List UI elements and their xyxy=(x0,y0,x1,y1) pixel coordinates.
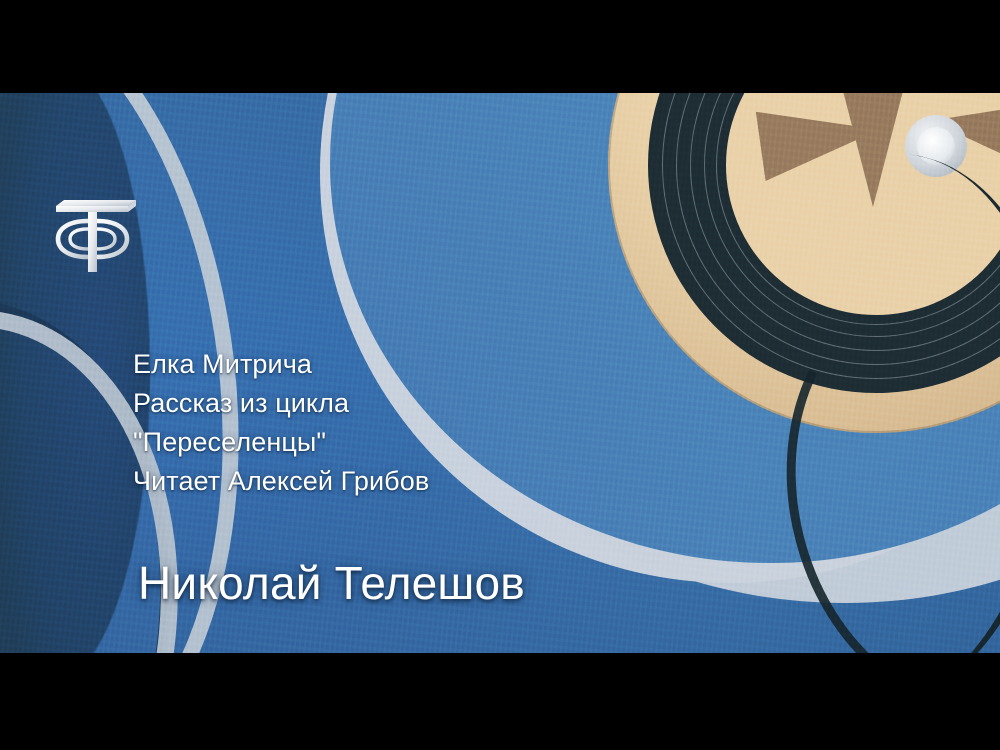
caption-line-title: Елка Митрича xyxy=(133,345,753,384)
caption-line-narrator: Читает Алексей Грибов xyxy=(133,462,753,501)
caption-line-series-prefix: Рассказ из цикла xyxy=(133,384,753,423)
letterbox-bar-bottom xyxy=(0,653,1000,750)
video-thumbnail-frame: Елка Митрича Рассказ из цикла "Переселен… xyxy=(0,0,1000,750)
author-name-title: Николай Телешов xyxy=(138,555,525,611)
radio-archive-monogram-logo xyxy=(46,193,150,277)
letterbox-bar-top xyxy=(0,0,1000,93)
artwork-canvas: Елка Митрича Рассказ из цикла "Переселен… xyxy=(0,93,1000,653)
caption-line-series-name: "Переселенцы" xyxy=(133,423,753,462)
caption-block: Елка Митрича Рассказ из цикла "Переселен… xyxy=(133,345,753,501)
